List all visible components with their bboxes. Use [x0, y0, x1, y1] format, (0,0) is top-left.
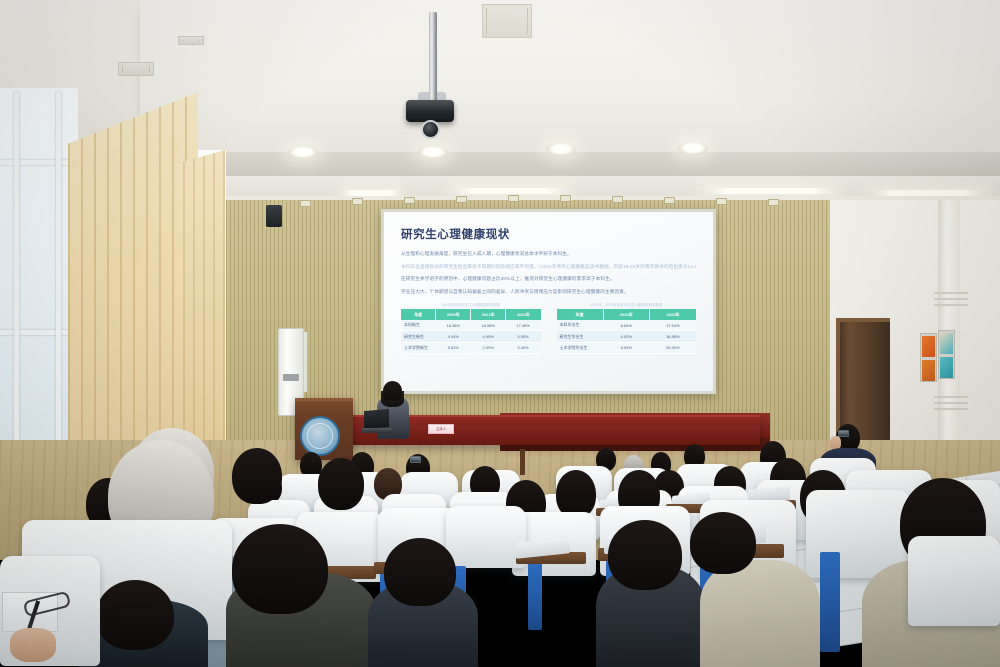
window-mullion: [14, 92, 19, 468]
curtain-right: [183, 150, 225, 450]
table-row: 研究生毕业生 6.02% 18.88%: [557, 331, 697, 342]
audience-head: [556, 470, 596, 518]
projection-screen: 研究生心理健康现状 从生理和心理发展角度，研究生已入成人期，心理健康状况总体水平…: [384, 212, 713, 391]
ceiling-light-strip-center: [450, 188, 570, 194]
window-mullion: [56, 92, 61, 468]
table-cell: 5.95%: [506, 331, 541, 342]
table-cell: 18.88%: [650, 331, 697, 342]
table-caption-left: 近5年本校在校学生心理健康测评数据: [401, 302, 541, 307]
artwork-tile-orange: [922, 360, 935, 381]
table-row: 土木学院新生 5.62% 2.09% 3.40%: [401, 342, 541, 353]
projector-pole: [429, 12, 437, 104]
name-card: 主持人: [428, 424, 454, 434]
table-header-cell: 年度: [401, 309, 436, 320]
projector-lens-icon: [421, 120, 440, 139]
table-cell: 本科毕业生: [557, 320, 604, 331]
audience-head: [232, 448, 282, 504]
table-row: 土木学院毕业生 5.93% 20.90%: [557, 342, 697, 353]
air-conditioner-grille: [283, 374, 299, 381]
table-cell: 20.90%: [650, 342, 697, 353]
table-cell: 18.58%: [471, 320, 506, 331]
audience-head-foreground: [608, 520, 682, 590]
table-leg: [520, 449, 525, 475]
table-cell: 4.44%: [436, 331, 471, 342]
projector-body: [406, 100, 454, 122]
seat-back[interactable]: [446, 506, 526, 568]
table-row: 本科毕业生 6.64% 17.54%: [557, 320, 697, 331]
slide-table-right-wrap: 2022年、2023年本校毕业生心理健康测评数据 年度 2022年 2023年 …: [557, 302, 697, 354]
pilaster-groove: [934, 396, 968, 398]
pilaster-groove: [934, 408, 968, 410]
table-cell: 本科新生: [401, 320, 436, 331]
window-mullion: [0, 160, 74, 165]
audience-head-foreground: [690, 512, 756, 574]
table-cell: 6.64%: [603, 320, 650, 331]
table-cell: 土木学院毕业生: [557, 342, 604, 353]
table-cell: 2.09%: [471, 342, 506, 353]
wall-bracket: [560, 195, 571, 202]
slide-title: 研究生心理健康现状: [401, 226, 696, 242]
table-header-cell: 年度: [557, 309, 604, 320]
table-header-cell: 2022年: [506, 309, 541, 320]
table-cell: 5.93%: [603, 342, 650, 353]
laptop-base: [362, 428, 392, 433]
table-row: 本科新生 18.38% 18.58% 17.49%: [401, 320, 541, 331]
presenter-hair: [383, 381, 402, 401]
downlight-3: [546, 143, 576, 156]
artwork-tile-teal: [940, 357, 953, 378]
table-header-cell: 2020年: [436, 309, 471, 320]
artwork-tile-orange: [922, 336, 935, 357]
pilaster-groove: [934, 292, 968, 294]
window-mullion: [0, 330, 74, 335]
wall-bracket: [352, 198, 363, 205]
name-card-label: 主持人: [429, 425, 453, 434]
slide-table-left-wrap: 近5年本校在校学生心理健康测评数据 年度 2020年 2021年 2022年: [401, 302, 541, 354]
wall-artwork-left: [920, 333, 937, 382]
projection-screen-frame: 研究生心理健康现状 从生理和心理发展角度，研究生已入成人期，心理健康状况总体水平…: [381, 209, 716, 394]
table-header-cell: 2022年: [603, 309, 650, 320]
table-cell: 研究生毕业生: [557, 331, 604, 342]
seat-back-foreground[interactable]: [908, 536, 1000, 626]
lecture-hall-photo: 研究生心理健康现状 从生理和心理发展角度，研究生已入成人期，心理健康状况总体水平…: [0, 0, 1000, 667]
laptop-screen: [364, 409, 389, 429]
seat-frame: [820, 552, 840, 652]
ceiling-vent-left: [178, 36, 204, 45]
window-wall: [0, 88, 78, 468]
table-enrolled-students: 年度 2020年 2021年 2022年 本科新生 18.38% 18.58%: [401, 309, 541, 354]
downlight-2: [418, 146, 448, 159]
slide-tables-row: 近5年本校在校学生心理健康测评数据 年度 2020年 2021年 2022年: [401, 302, 696, 354]
wall-bracket: [612, 196, 623, 203]
wall-bracket: [768, 199, 779, 206]
wall-artwork-right: [938, 330, 955, 379]
table-cell: 4.95%: [471, 331, 506, 342]
slide-paragraph-1: 从生理和心理发展角度，研究生已入成人期，心理健康状况总体水平好于本科生。: [401, 251, 696, 257]
table-caption-right: 2022年、2023年本校毕业生心理健康测评数据: [557, 302, 697, 307]
wall-speaker: [266, 205, 282, 227]
slide-paragraph-2: 本科毕业直接攻读的研究生检出率低于同期的同龄相应率平均值。（2021年青年心理健…: [401, 264, 696, 270]
pilaster-groove: [934, 402, 968, 404]
wall-pilaster: [938, 200, 960, 450]
table-cell: 17.49%: [506, 320, 541, 331]
table-graduating-students: 年度 2022年 2023年 本科毕业生 6.64% 17.54%: [557, 309, 697, 354]
downlight-1: [288, 146, 318, 159]
table-cell: 3.40%: [506, 342, 541, 353]
table-header-cell: 2021年: [471, 309, 506, 320]
hand-writing: [10, 628, 56, 662]
wall-bracket: [664, 197, 675, 204]
audience-shoulders: [700, 560, 820, 667]
wall-bracket: [300, 200, 311, 207]
wall-bracket: [508, 195, 519, 202]
table-header-row: 年度 2020年 2021年 2022年: [401, 309, 541, 320]
pilaster-groove: [934, 298, 968, 300]
wall-bracket: [456, 196, 467, 203]
artwork-tile-teal: [940, 333, 953, 354]
camera-phone: [838, 430, 849, 437]
audience-head-foreground: [232, 524, 328, 614]
seat-frame: [528, 560, 542, 630]
table-header-row: 年度 2022年 2023年: [557, 309, 697, 320]
ceiling-vent-right: [482, 4, 532, 38]
camera-phone: [410, 456, 421, 463]
table-row: 研究生新生 4.44% 4.95% 5.95%: [401, 331, 541, 342]
table-cell: 18.38%: [436, 320, 471, 331]
ceiling-light-strip-right: [700, 188, 840, 194]
table-cell: 研究生新生: [401, 331, 436, 342]
table-header-cell: 2023年: [650, 309, 697, 320]
slide-paragraph-3: 在研究生休学退学的原因中，心理健康问题占比30%以上，推测对研究生心理健康的需求…: [401, 276, 696, 282]
ceiling-vent-center: [118, 62, 154, 76]
university-crest-icon: [300, 416, 340, 456]
audience-head-foreground: [384, 538, 456, 606]
curtain-left: [68, 92, 198, 462]
wall-bracket: [716, 198, 727, 205]
audience-head: [318, 458, 364, 510]
table-cell: 5.62%: [436, 342, 471, 353]
ceiling-slab: [140, 0, 1000, 160]
audience-head-foreground: [96, 580, 174, 650]
table-cell: 6.02%: [603, 331, 650, 342]
table-cell: 17.54%: [650, 320, 697, 331]
ceiling-lip: [150, 152, 1000, 178]
wall-bracket: [404, 197, 415, 204]
slide-paragraph-4: 学业压力大、个体期望与自我认知偏差之间的差异、人际冲突与情绪压力是影响研究生心理…: [401, 289, 696, 295]
table-cell: 土木学院新生: [401, 342, 436, 353]
downlight-4: [678, 142, 708, 155]
pilaster-groove: [934, 304, 968, 306]
